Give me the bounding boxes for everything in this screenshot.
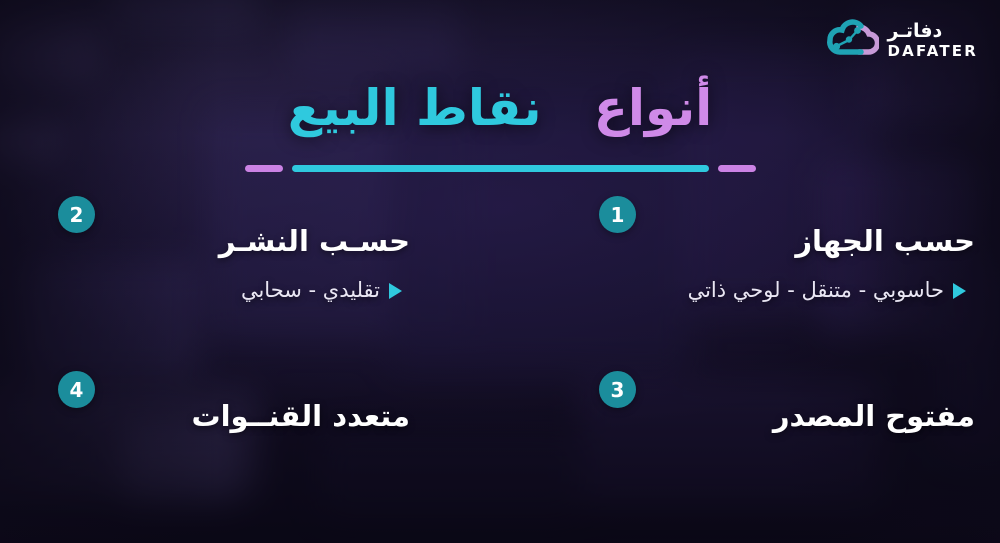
items-grid: حسب الجهاز 1 حاسوبي - متنقل - لوحي ذاتي …	[0, 210, 1000, 465]
item-1-description-text: حاسوبي - متنقل - لوحي ذاتي	[636, 276, 944, 304]
page-title-part-1: أنواع	[594, 79, 713, 137]
item-3-label: مفتوح المصدر	[773, 385, 975, 447]
item-2-label: حسـب النشـر	[219, 210, 410, 272]
brand-logo[interactable]: دفاتـر DAFATER	[817, 18, 978, 62]
divider-segment-center	[292, 165, 709, 172]
brand-name-arabic: دفاتـر	[888, 22, 943, 41]
brand-logo-text: دفاتـر DAFATER	[888, 22, 978, 59]
item-2-description: تقليدي - سحابي	[102, 276, 402, 304]
divider-segment-right	[718, 165, 756, 172]
item-2-description-text: تقليدي - سحابي	[102, 276, 380, 304]
cloud-network-icon	[817, 18, 879, 62]
title-divider	[0, 165, 1000, 172]
item-1-label: حسب الجهاز	[795, 210, 975, 272]
item-3-number-badge: 3	[599, 371, 636, 408]
triangle-left-icon	[389, 283, 402, 299]
item-4-label: متعدد القنــوات	[191, 385, 410, 447]
item-1-description: حاسوبي - متنقل - لوحي ذاتي	[636, 276, 966, 304]
brand-name-english: DAFATER	[888, 44, 978, 59]
items-row-2: مفتوح المصدر 3 متعدد القنــوات 4	[0, 385, 1000, 465]
page-title-part-2: نقاط البيع	[288, 79, 542, 137]
infographic-canvas: دفاتـر DAFATER أنواع نقاط البيع	[0, 0, 1000, 543]
item-1-number-badge: 1	[599, 196, 636, 233]
divider-segment-left	[245, 165, 283, 172]
triangle-left-icon	[953, 283, 966, 299]
item-2-number-badge: 2	[58, 196, 95, 233]
page-title: أنواع نقاط البيع	[0, 82, 1000, 135]
items-row-1: حسب الجهاز 1 حاسوبي - متنقل - لوحي ذاتي …	[0, 210, 1000, 297]
item-4-number-badge: 4	[58, 371, 95, 408]
